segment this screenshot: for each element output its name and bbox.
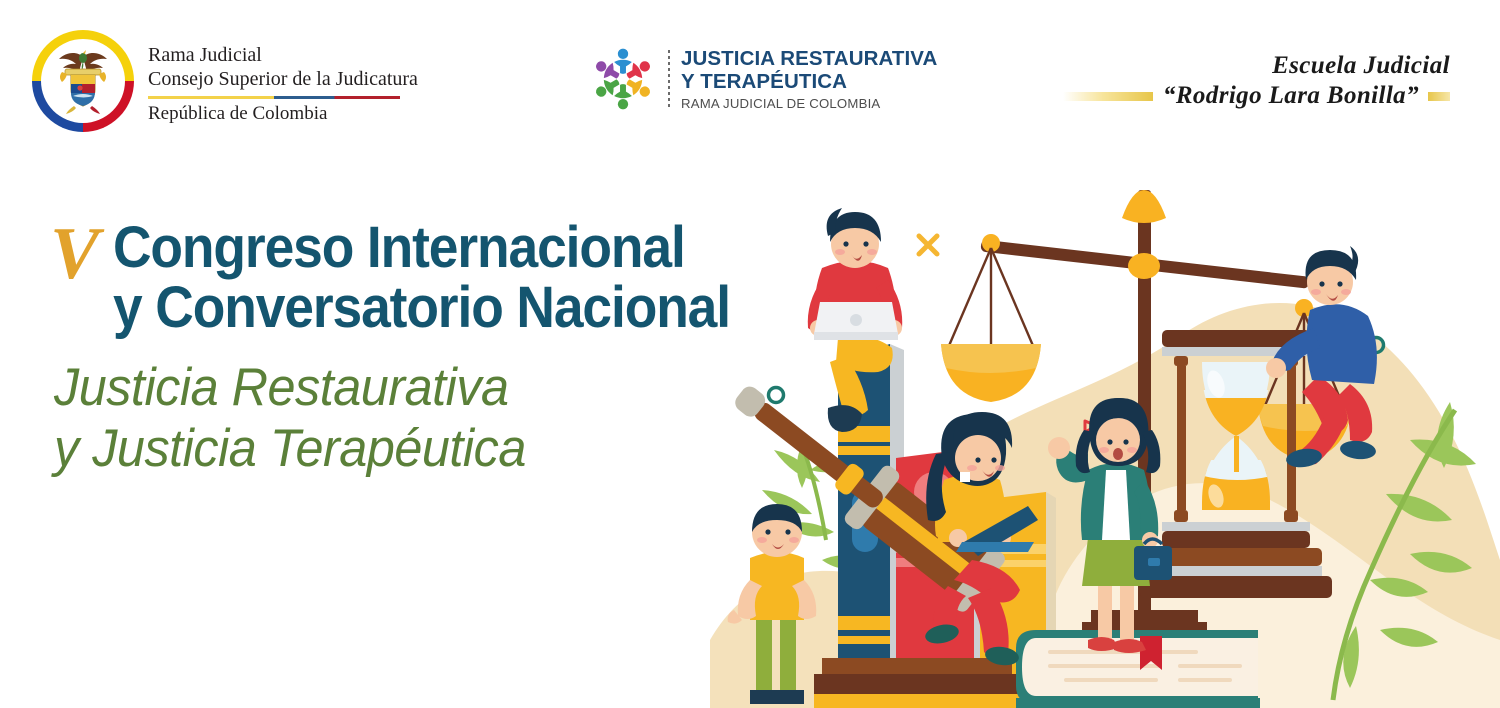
justicia-restaurativa-logo: JUSTICIA RESTAURATIVA Y TERAPÉUTICA RAMA…	[586, 42, 937, 116]
rama-judicial-line2: Consejo Superior de la Judicatura	[148, 68, 418, 92]
congress-main-title: Congreso Internacional y Conversatorio N…	[113, 218, 730, 339]
rama-judicial-logo: Rama Judicial Consejo Superior de la Jud…	[32, 30, 418, 132]
congress-subtitle: Justicia Restaurativa y Justicia Terapéu…	[54, 357, 748, 480]
rama-judicial-line3: República de Colombia	[148, 103, 418, 126]
jr-line3: RAMA JUDICIAL DE COLOMBIA	[681, 97, 937, 110]
justice-scene-illustration	[710, 140, 1500, 708]
congress-title-block: V Congreso Internacional y Conversatorio…	[50, 218, 784, 480]
colombia-tricolor-divider	[148, 96, 400, 99]
escuela-judicial-line1: Escuela Judicial	[1063, 52, 1450, 80]
justicia-restaurativa-text: JUSTICIA RESTAURATIVA Y TERAPÉUTICA RAMA…	[681, 48, 937, 110]
people-circle-icon	[586, 42, 660, 116]
x-marker	[919, 236, 937, 254]
main-title-line1: Congreso Internacional	[113, 215, 685, 280]
escuela-accent-bar-right	[1428, 92, 1450, 101]
rama-judicial-line1: Rama Judicial	[148, 44, 418, 68]
subtitle-line2: y Justicia Terapéutica	[54, 418, 748, 479]
colombia-judicial-seal-icon	[32, 30, 134, 132]
congress-banner: Rama Judicial Consejo Superior de la Jud…	[0, 0, 1500, 708]
jr-line2: Y TERAPÉUTICA	[681, 71, 937, 94]
roman-numeral: V	[50, 222, 99, 287]
jr-line1: JUSTICIA RESTAURATIVA	[681, 48, 937, 71]
rama-judicial-text: Rama Judicial Consejo Superior de la Jud…	[148, 30, 418, 126]
subtitle-line1: Justicia Restaurativa	[54, 358, 509, 417]
escuela-accent-bar-left	[1063, 92, 1153, 101]
main-title-line2: y Conversatorio Nacional	[113, 278, 730, 338]
escuela-judicial-line2: “Rodrigo Lara Bonilla”	[1163, 82, 1419, 110]
header-logos-bar: Rama Judicial Consejo Superior de la Jud…	[0, 0, 1500, 150]
escuela-judicial-logo: Escuela Judicial “Rodrigo Lara Bonilla”	[1063, 52, 1450, 110]
logo-dotted-divider	[668, 50, 670, 108]
